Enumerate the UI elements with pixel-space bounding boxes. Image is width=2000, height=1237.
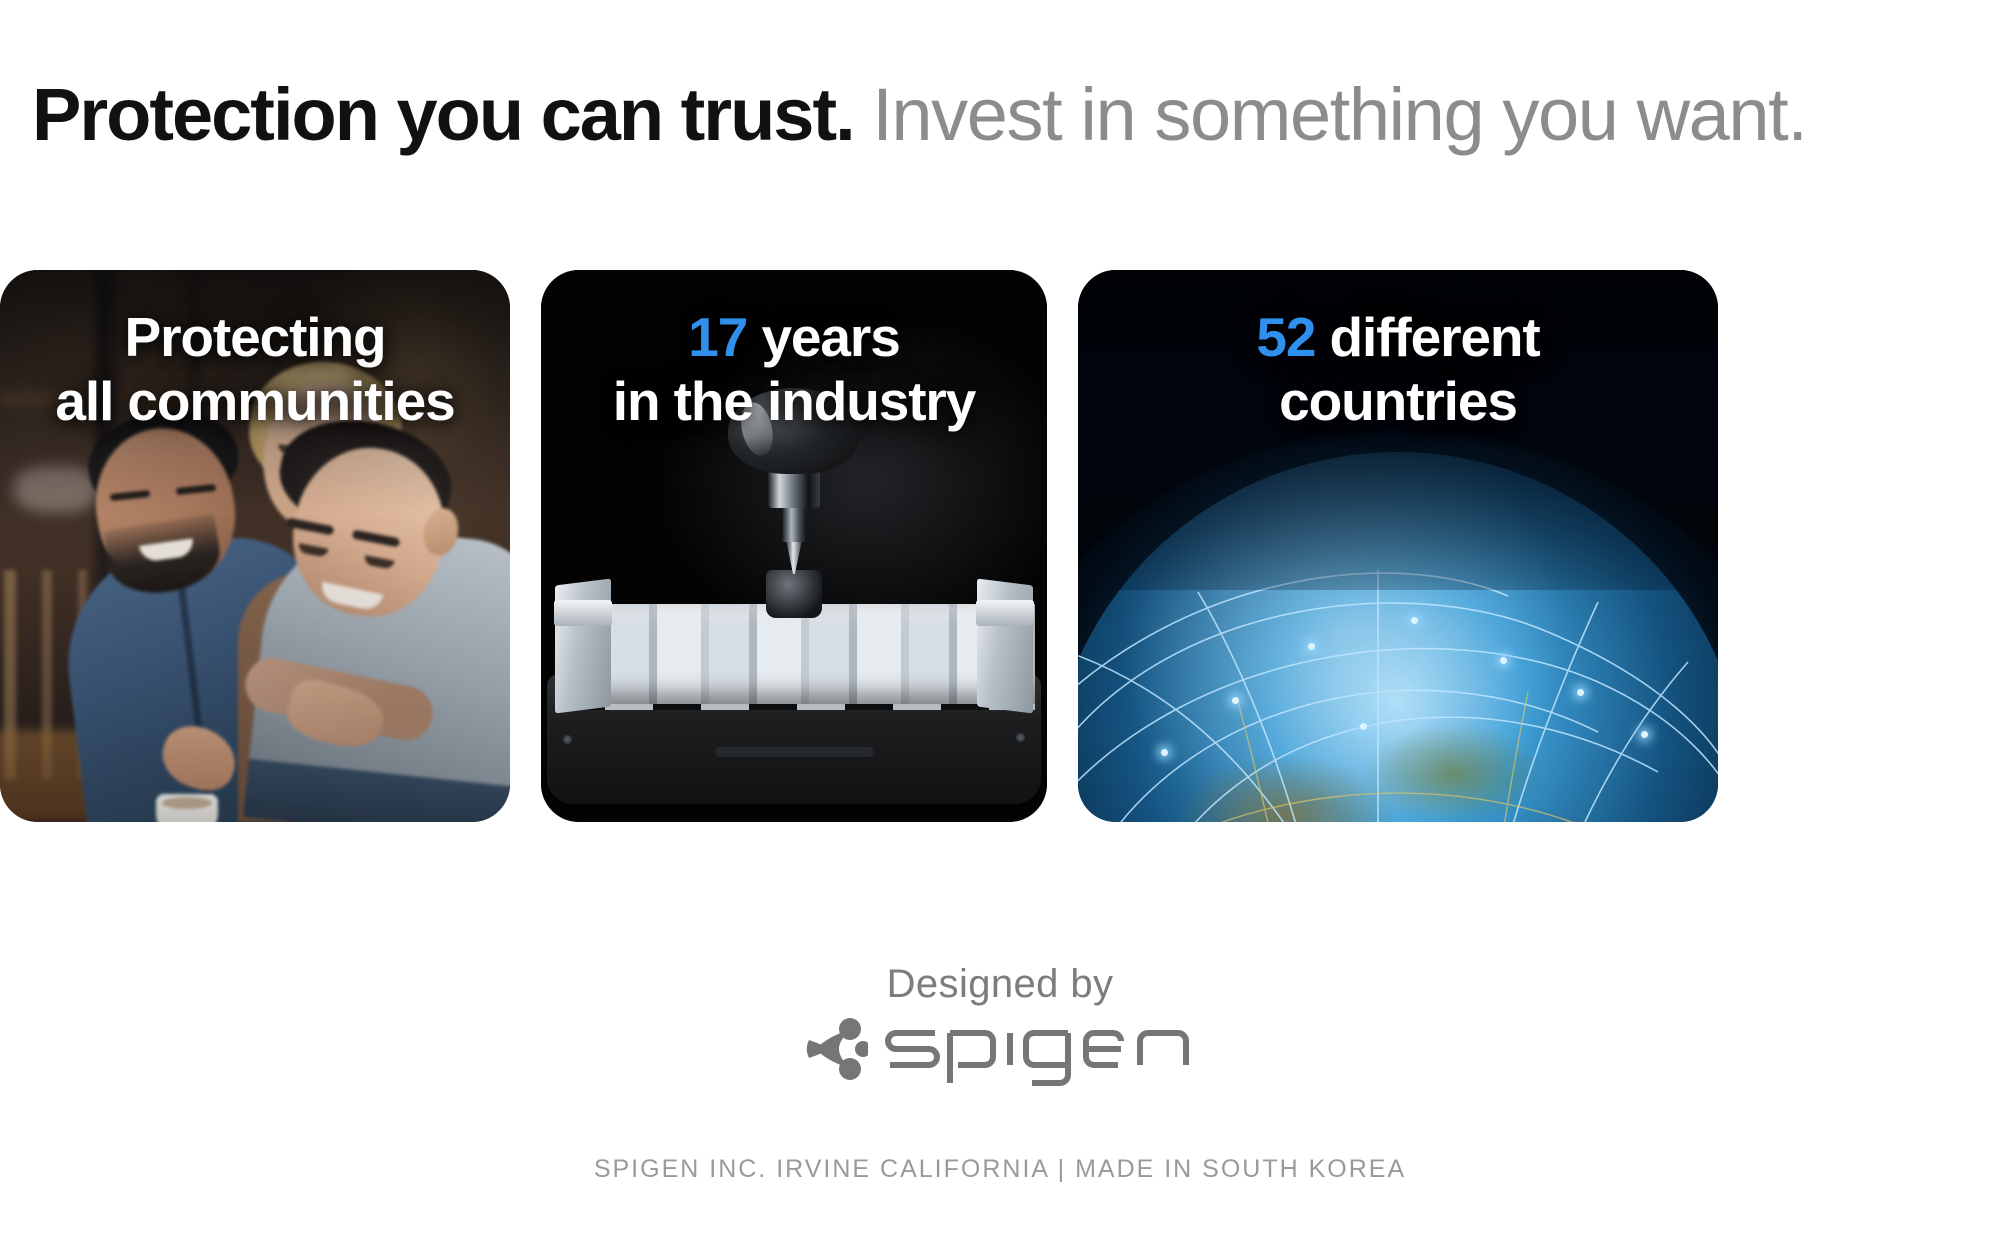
cnc-screw — [563, 735, 572, 744]
page-title: Protection you can trust. Invest in some… — [32, 78, 1807, 152]
designed-by-label: Designed by — [887, 962, 1114, 1007]
cnc-metal-bed — [557, 604, 1035, 704]
promo-banner: Protection you can trust. Invest in some… — [0, 0, 2000, 1237]
cnc-drill-shank — [782, 506, 806, 542]
cnc-rail-cap — [976, 600, 1034, 626]
cnc-screw — [1016, 733, 1025, 742]
spigen-logo — [806, 1011, 1194, 1087]
feature-card-communities[interactable]: Protecting all communities — [0, 270, 510, 822]
cnc-workpiece — [766, 570, 822, 618]
globe-node — [1232, 697, 1239, 704]
feature-card-years[interactable]: 17 years in the industry — [541, 270, 1047, 822]
cnc-rail — [555, 579, 611, 714]
feature-card-row: Protecting all communities — [0, 270, 2000, 822]
legal-footer: SPIGEN INC. IRVINE CALIFORNIA | MADE IN … — [0, 1155, 2000, 1184]
cnc-machine-photo — [541, 270, 1047, 822]
feature-card-countries[interactable]: 52 different countries — [1078, 270, 1718, 822]
globe-node — [1360, 723, 1367, 730]
headline-primary: Protection you can trust. — [32, 73, 854, 156]
photo-overlay-gradient — [0, 270, 510, 822]
people-cafe-photo — [0, 270, 510, 822]
cnc-rail-cap — [554, 600, 612, 626]
network-globe-photo — [1078, 270, 1718, 822]
headline-secondary: Invest in something you want. — [872, 73, 1806, 156]
cnc-rail — [977, 579, 1033, 714]
brand-block: Designed by — [0, 962, 2000, 1087]
spigen-wordmark — [882, 1011, 1194, 1087]
spigen-molecule-logo — [806, 1016, 868, 1082]
globe-node — [1411, 617, 1418, 624]
globe-top-gradient — [1078, 270, 1718, 590]
